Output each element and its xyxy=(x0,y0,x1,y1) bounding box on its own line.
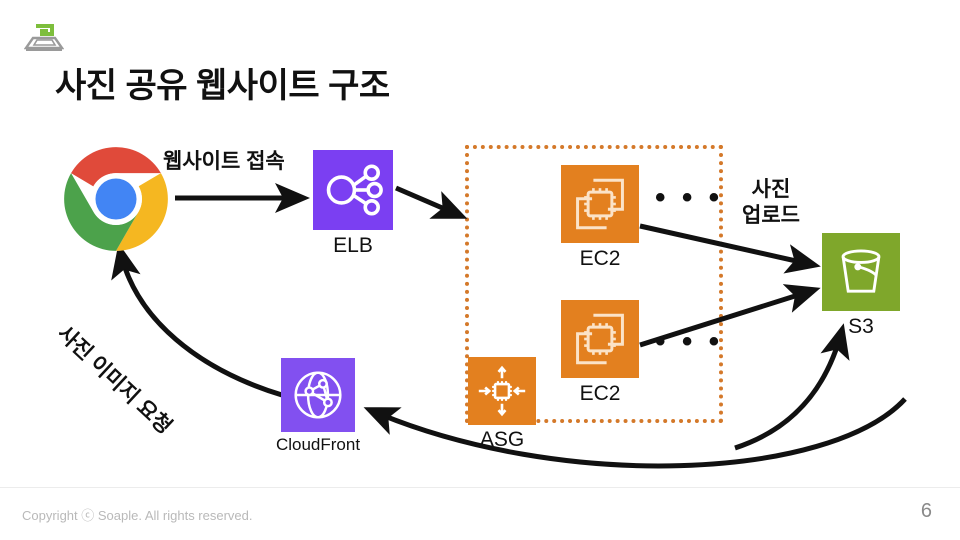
node-s3[interactable]: S3 xyxy=(822,233,900,311)
ellipsis-ec2-secondary: • • • xyxy=(655,327,723,357)
node-label-s3: S3 xyxy=(848,315,874,339)
asg-scaling-icon xyxy=(473,362,531,420)
ec2-chip-icon xyxy=(567,171,633,237)
edge-label-photo-upload-line2: 업로드 xyxy=(742,203,800,229)
node-label-ec2-secondary: EC2 xyxy=(580,382,621,406)
chrome-browser-icon xyxy=(62,145,170,253)
ec2-tile xyxy=(561,300,639,378)
ec2-chip-icon xyxy=(567,306,633,372)
arrow-cloudfront-to-chrome xyxy=(120,250,282,395)
node-label-cloudfront: CloudFront xyxy=(276,435,360,455)
node-elb[interactable]: ELB xyxy=(313,150,393,230)
node-asg[interactable]: ASG xyxy=(468,357,536,425)
asg-tile xyxy=(468,357,536,425)
ec2-tile xyxy=(561,165,639,243)
node-chrome-browser[interactable] xyxy=(62,145,170,253)
node-ec2-primary[interactable]: EC2 xyxy=(561,165,639,243)
footer-divider xyxy=(0,487,960,488)
s3-tile xyxy=(822,233,900,311)
node-label-elb: ELB xyxy=(333,234,373,258)
edge-label-photo-upload-line1: 사진 xyxy=(742,177,800,203)
cloudfront-globe-icon xyxy=(287,364,349,426)
elb-icon xyxy=(317,154,389,226)
node-label-ec2-primary: EC2 xyxy=(580,247,621,271)
node-ec2-secondary[interactable]: EC2 xyxy=(561,300,639,378)
slide-canvas: 사진 공유 웹사이트 구조 xyxy=(0,0,960,540)
node-cloudfront[interactable]: CloudFront xyxy=(281,358,355,432)
cloudfront-tile xyxy=(281,358,355,432)
ellipsis-ec2-primary: • • • xyxy=(655,183,723,213)
page-title: 사진 공유 웹사이트 구조 xyxy=(55,58,390,107)
elb-tile xyxy=(313,150,393,230)
copyright-notice: Copyright ⓒ Soaple. All rights reserved. xyxy=(22,505,253,524)
page-number: 6 xyxy=(921,500,932,523)
arrow-elb-to-ec2group xyxy=(396,188,461,216)
edge-label-website-access: 웹사이트 접속 xyxy=(163,145,285,175)
arrow-up-to-s3 xyxy=(735,330,842,448)
edge-label-image-request: 사진 이미지 요청 xyxy=(52,318,180,440)
edge-label-photo-upload: 사진 업로드 xyxy=(742,177,800,230)
soaple-logo xyxy=(24,22,64,56)
s3-bucket-icon xyxy=(829,240,893,304)
node-label-asg: ASG xyxy=(480,428,524,452)
